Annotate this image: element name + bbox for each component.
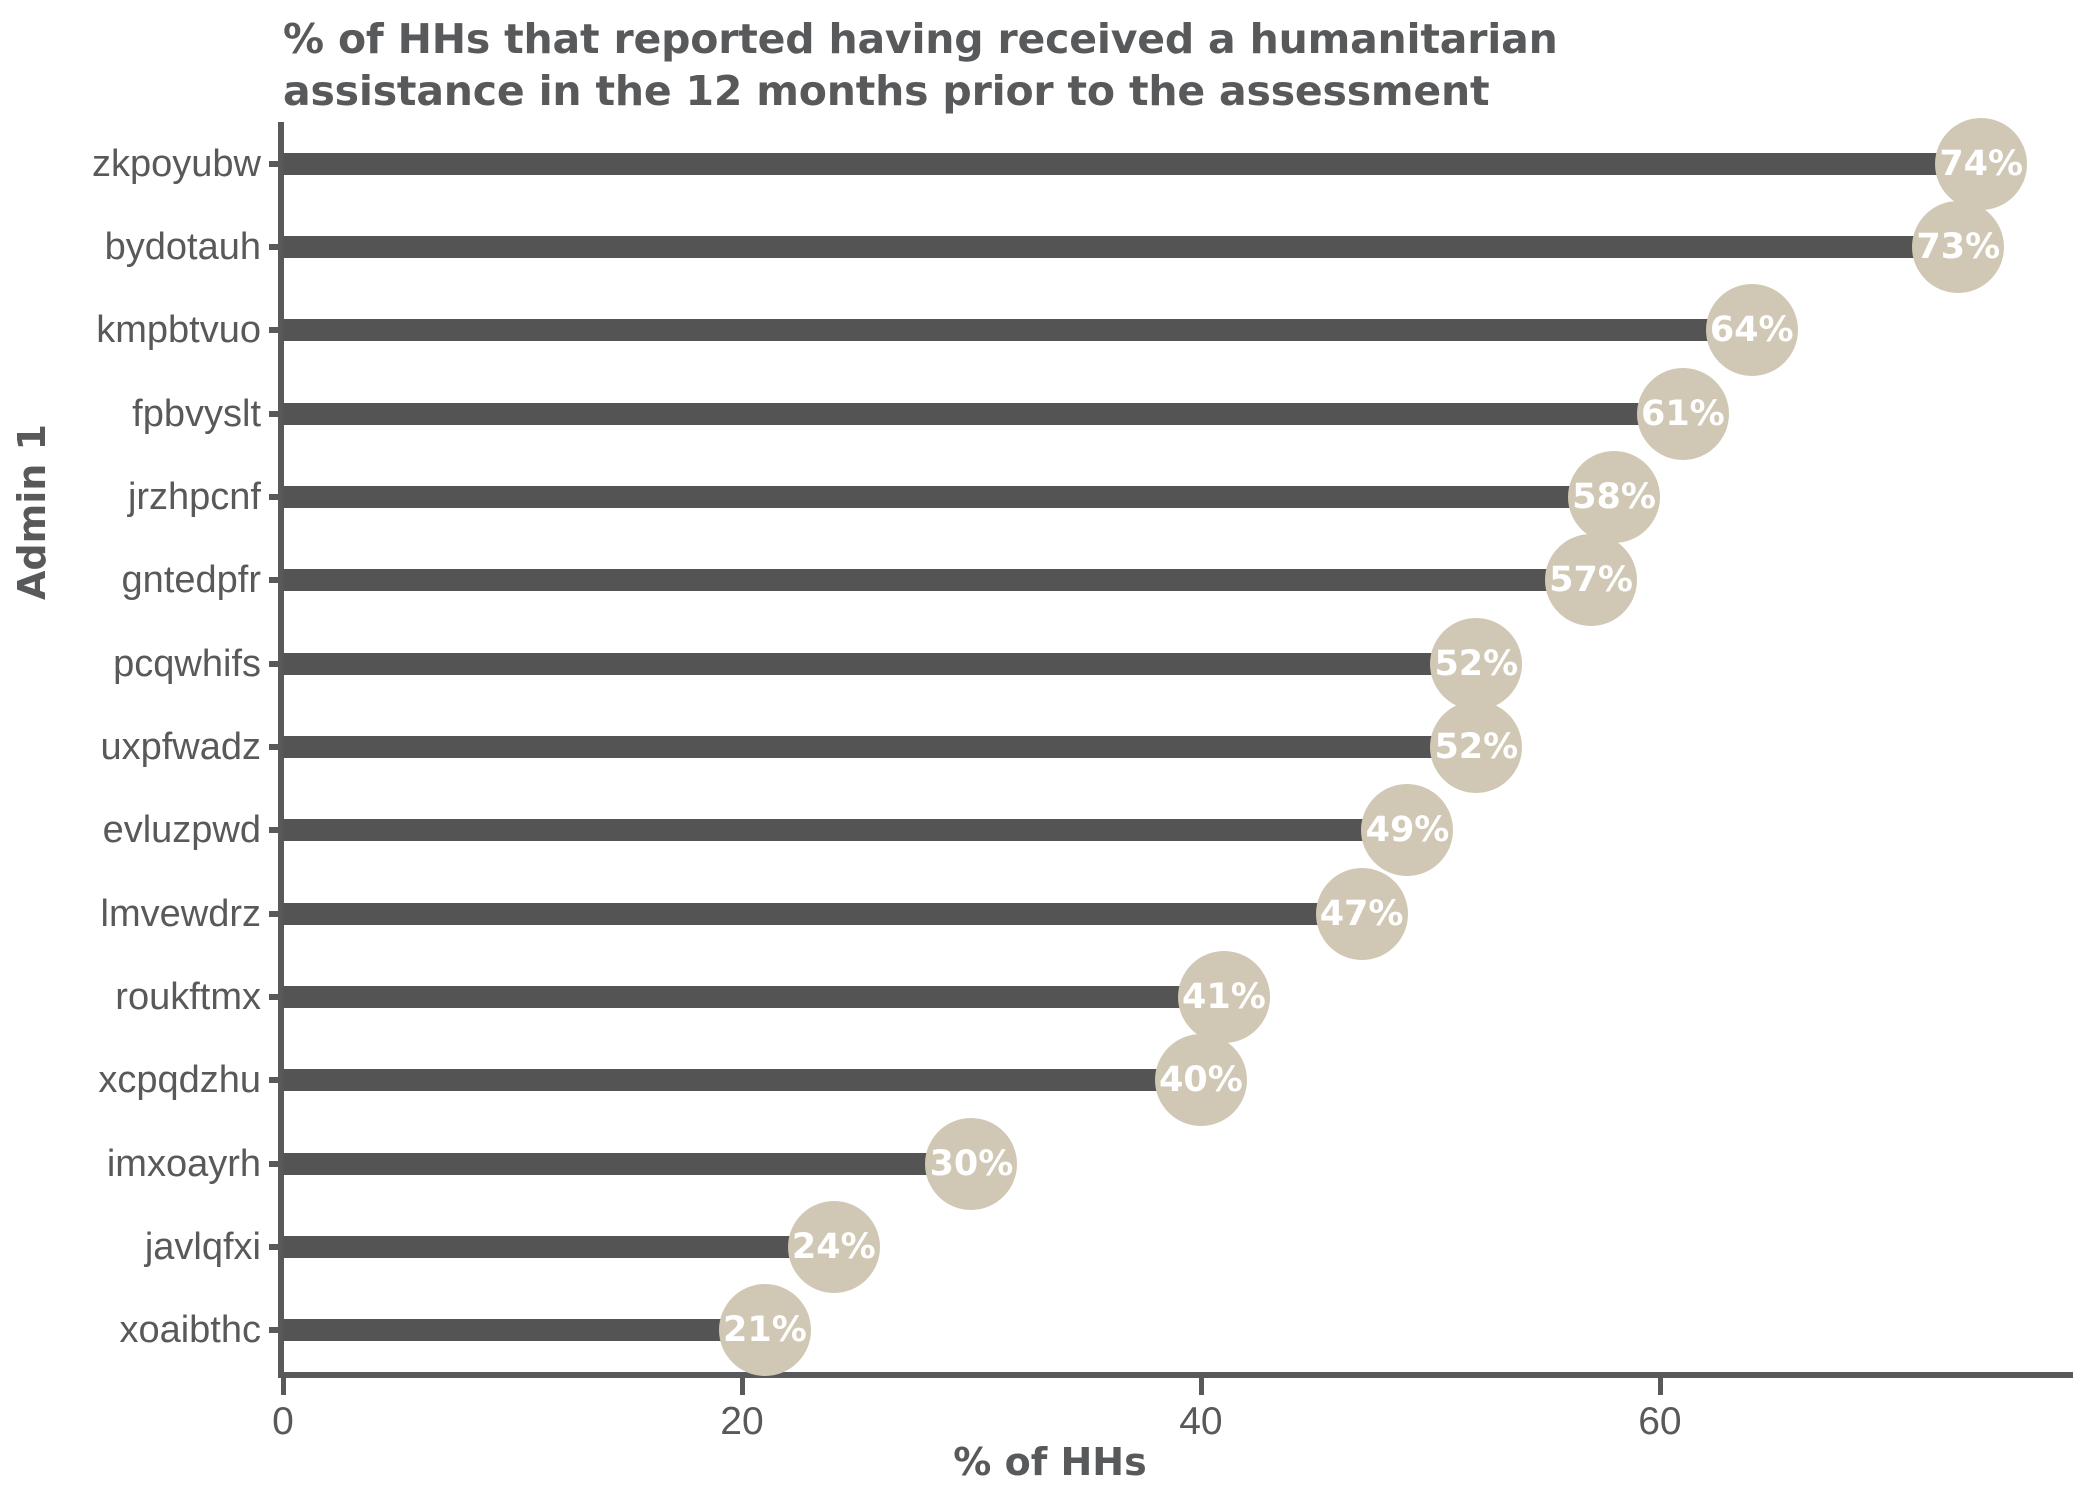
lollipop-stem <box>283 986 1224 1008</box>
lollipop-stem <box>283 653 1476 675</box>
x-axis-tick <box>281 1378 286 1395</box>
x-axis-tick <box>740 1378 745 1395</box>
chart-container: % of HHs that reported having received a… <box>0 0 2100 1500</box>
lollipop-stem <box>283 569 1591 591</box>
y-axis-tick <box>269 661 283 667</box>
y-axis-title: Admin 1 <box>10 424 54 600</box>
data-value-bubble: 74% <box>1935 118 2027 210</box>
data-value-bubble: 52% <box>1430 618 1522 710</box>
data-value-bubble: 64% <box>1706 284 1798 376</box>
x-axis-tick <box>1199 1378 1204 1395</box>
y-axis-tick <box>269 827 283 833</box>
data-value-bubble: 73% <box>1912 201 2004 293</box>
y-axis-tick <box>269 1327 283 1333</box>
lollipop-stem <box>283 1069 1201 1091</box>
y-axis-tick-label: uxpfwadz <box>100 723 261 771</box>
y-axis-tick-label: jrzhpcnf <box>128 473 261 521</box>
x-axis-tick <box>1658 1378 1663 1395</box>
x-axis-tick-label: 0 <box>203 1400 363 1444</box>
y-axis-tick <box>269 244 283 250</box>
lollipop-stem <box>283 819 1407 841</box>
y-axis-tick <box>269 1161 283 1167</box>
y-axis-tick-label: evluzpwd <box>103 806 261 854</box>
y-axis-tick-label: lmvewdrz <box>101 890 261 938</box>
lollipop-stem <box>283 486 1614 508</box>
data-value-bubble: 49% <box>1361 784 1453 876</box>
y-axis-tick-label: gntedpfr <box>122 556 261 604</box>
y-axis-tick-label: roukftmx <box>115 973 261 1021</box>
y-axis-tick <box>269 994 283 1000</box>
plot-area: zkpoyubw74%bydotauh73%kmpbtvuo64%fpbvysl… <box>283 122 2073 1372</box>
x-axis-spine <box>278 1372 2073 1378</box>
y-axis-tick <box>269 411 283 417</box>
data-value-bubble: 58% <box>1568 451 1660 543</box>
y-axis-tick-label: bydotauh <box>105 223 261 271</box>
y-axis-tick <box>269 494 283 500</box>
data-value-bubble: 61% <box>1637 368 1729 460</box>
x-axis-tick-label: 40 <box>1121 1400 1281 1444</box>
data-value-bubble: 52% <box>1430 701 1522 793</box>
x-axis-title: % of HHs <box>0 1440 2100 1484</box>
x-axis-tick-label: 60 <box>1580 1400 1740 1444</box>
lollipop-stem <box>283 403 1683 425</box>
y-axis-tick-label: zkpoyubw <box>92 140 261 188</box>
y-axis-tick-label: pcqwhifs <box>113 640 261 688</box>
y-axis-tick-label: imxoayrh <box>107 1140 261 1188</box>
lollipop-stem <box>283 1236 834 1258</box>
y-axis-tick <box>269 911 283 917</box>
y-axis-tick <box>269 161 283 167</box>
lollipop-stem <box>283 1319 765 1341</box>
x-axis-tick-label: 20 <box>662 1400 822 1444</box>
data-value-bubble: 41% <box>1178 951 1270 1043</box>
y-axis-tick-label: javlqfxi <box>145 1223 261 1271</box>
y-axis-tick <box>269 1244 283 1250</box>
lollipop-stem <box>283 903 1362 925</box>
data-value-bubble: 47% <box>1316 868 1408 960</box>
y-axis-tick-label: xoaibthc <box>119 1306 261 1354</box>
chart-title-line-1: % of HHs that reported having received a… <box>283 14 1843 66</box>
y-axis-tick <box>269 577 283 583</box>
data-value-bubble: 21% <box>719 1284 811 1376</box>
lollipop-stem <box>283 736 1476 758</box>
lollipop-stem <box>283 1153 971 1175</box>
data-value-bubble: 57% <box>1545 534 1637 626</box>
data-value-bubble: 30% <box>925 1118 1017 1210</box>
y-axis-tick-label: xcpqdzhu <box>98 1056 261 1104</box>
chart-title: % of HHs that reported having received a… <box>283 14 1843 117</box>
y-axis-tick <box>269 327 283 333</box>
lollipop-stem <box>283 236 1958 258</box>
data-value-bubble: 40% <box>1155 1034 1247 1126</box>
chart-title-line-2: assistance in the 12 months prior to the… <box>283 66 1843 118</box>
y-axis-tick <box>269 744 283 750</box>
data-value-bubble: 24% <box>788 1201 880 1293</box>
y-axis-tick-label: kmpbtvuo <box>96 306 261 354</box>
lollipop-stem <box>283 153 1981 175</box>
y-axis-tick-label: fpbvyslt <box>132 390 261 438</box>
lollipop-stem <box>283 319 1752 341</box>
y-axis-tick <box>269 1077 283 1083</box>
